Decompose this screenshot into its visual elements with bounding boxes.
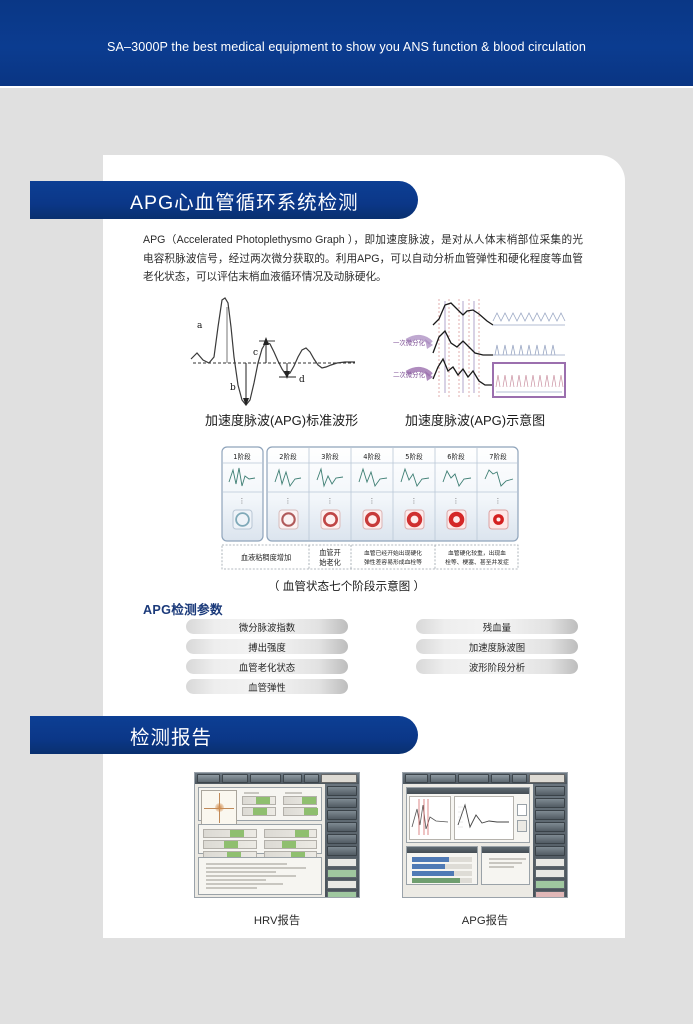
apg-waveform-svg: a b c d bbox=[183, 297, 363, 417]
stage-desc-3: 血管已经开始出现硬化 bbox=[364, 549, 422, 557]
apg-pulse-chart bbox=[409, 796, 451, 840]
apg-standard-waveform-figure: a b c d bbox=[183, 297, 363, 422]
parameter-pill[interactable]: 血管老化状态 bbox=[186, 659, 348, 674]
stage-header-5: 5阶段 bbox=[405, 452, 423, 461]
side-panel bbox=[533, 784, 567, 897]
waveform-label-d: d bbox=[299, 375, 305, 385]
parameter-pill[interactable]: 搏出强度 bbox=[186, 639, 348, 654]
apg-intro-paragraph: APG（Accelerated Photoplethysmo Graph ），即… bbox=[143, 231, 583, 287]
toolbar bbox=[195, 773, 359, 784]
parameters-title: APG检测参数 bbox=[143, 599, 223, 618]
schematic-label-second-derivative: 二次微分化 bbox=[393, 370, 426, 379]
svg-text:⋮: ⋮ bbox=[285, 498, 292, 505]
stage-desc-1: 血液粘稠度增加 bbox=[241, 553, 291, 562]
stage-diagram-caption: （ 血管状态七个阶段示意图 ） bbox=[0, 578, 693, 594]
figure-caption-right: 加速度脉波(APG)示意图 bbox=[405, 410, 545, 429]
report-hrv-caption: HRV报告 bbox=[194, 912, 360, 928]
svg-text:⋮: ⋮ bbox=[369, 498, 376, 505]
parameter-pill[interactable]: 血管弹性 bbox=[186, 679, 348, 694]
section-banner-apg: APG心血管循环系统检测 bbox=[30, 181, 418, 219]
svg-text:⋮: ⋮ bbox=[411, 498, 418, 505]
report-body bbox=[195, 784, 325, 897]
apg-schematic-svg: 一次微分化 二次微分化 bbox=[393, 297, 573, 417]
toolbar bbox=[403, 773, 567, 784]
report-hrv: HRV报告 bbox=[194, 772, 360, 928]
section-banner-apg-label: APG心血管循环系统检测 bbox=[130, 186, 359, 215]
side-panel bbox=[325, 784, 359, 897]
svg-text:⋮: ⋮ bbox=[495, 498, 502, 505]
svg-text:⋮: ⋮ bbox=[453, 498, 460, 505]
apg-schematic-figure: 一次微分化 二次微分化 bbox=[393, 297, 573, 422]
stage-desc-2: 血管开 bbox=[319, 548, 341, 557]
svg-text:⋮: ⋮ bbox=[327, 498, 334, 505]
parameters-column-left: 微分脉波指数 搏出强度 血管老化状态 血管弹性 bbox=[186, 619, 348, 699]
header-title: SA–3000P the best medical equipment to s… bbox=[0, 40, 693, 54]
vessel-stage-svg: 1阶段 2阶段 3阶段 4阶段 5阶段 6阶段 7阶段 ⋮⋮⋮ ⋮⋮⋮ ⋮ bbox=[221, 446, 519, 570]
stage-header-1: 1阶段 bbox=[233, 452, 251, 461]
parameter-pill[interactable]: 加速度脉波图 bbox=[416, 639, 578, 654]
report-apg-caption: APG报告 bbox=[402, 912, 568, 928]
stage-desc-4: 血管硬化较重，出现血 bbox=[448, 549, 506, 557]
report-hrv-screenshot[interactable] bbox=[194, 772, 360, 898]
svg-text:栓等、梗塞、甚至并发症: 栓等、梗塞、甚至并发症 bbox=[445, 558, 509, 566]
stage-header-2: 2阶段 bbox=[279, 452, 297, 461]
stage-header-7: 7阶段 bbox=[489, 452, 507, 461]
parameters-column-right: 残血量 加速度脉波图 波形阶段分析 bbox=[416, 619, 578, 679]
apg-waveform-chart bbox=[454, 796, 514, 840]
report-body bbox=[403, 784, 533, 897]
waveform-label-a: a bbox=[197, 321, 203, 331]
parameter-pill[interactable]: 残血量 bbox=[416, 619, 578, 634]
stage-header-4: 4阶段 bbox=[363, 452, 381, 461]
svg-text:弹性差容易形成血栓等: 弹性差容易形成血栓等 bbox=[364, 558, 422, 566]
section-banner-report-label: 检测报告 bbox=[130, 721, 212, 750]
waveform-label-c: c bbox=[253, 348, 258, 358]
svg-text:⋮: ⋮ bbox=[239, 498, 246, 505]
stage-header-6: 6阶段 bbox=[447, 452, 465, 461]
scatter-plot bbox=[201, 790, 237, 826]
svg-text:始老化: 始老化 bbox=[319, 558, 341, 567]
header-banner: SA–3000P the best medical equipment to s… bbox=[0, 0, 693, 88]
parameter-pill[interactable]: 波形阶段分析 bbox=[416, 659, 578, 674]
section-banner-report: 检测报告 bbox=[30, 716, 418, 754]
stage-header-3: 3阶段 bbox=[321, 452, 339, 461]
report-apg: APG报告 bbox=[402, 772, 568, 928]
schematic-label-first-derivative: 一次微分化 bbox=[393, 338, 426, 347]
report-apg-screenshot[interactable] bbox=[402, 772, 568, 898]
vessel-stage-diagram: 1阶段 2阶段 3阶段 4阶段 5阶段 6阶段 7阶段 ⋮⋮⋮ ⋮⋮⋮ ⋮ bbox=[221, 446, 519, 570]
figure-caption-left: 加速度脉波(APG)标准波形 bbox=[205, 410, 358, 429]
parameter-pill[interactable]: 微分脉波指数 bbox=[186, 619, 348, 634]
waveform-label-b: b bbox=[230, 383, 236, 393]
